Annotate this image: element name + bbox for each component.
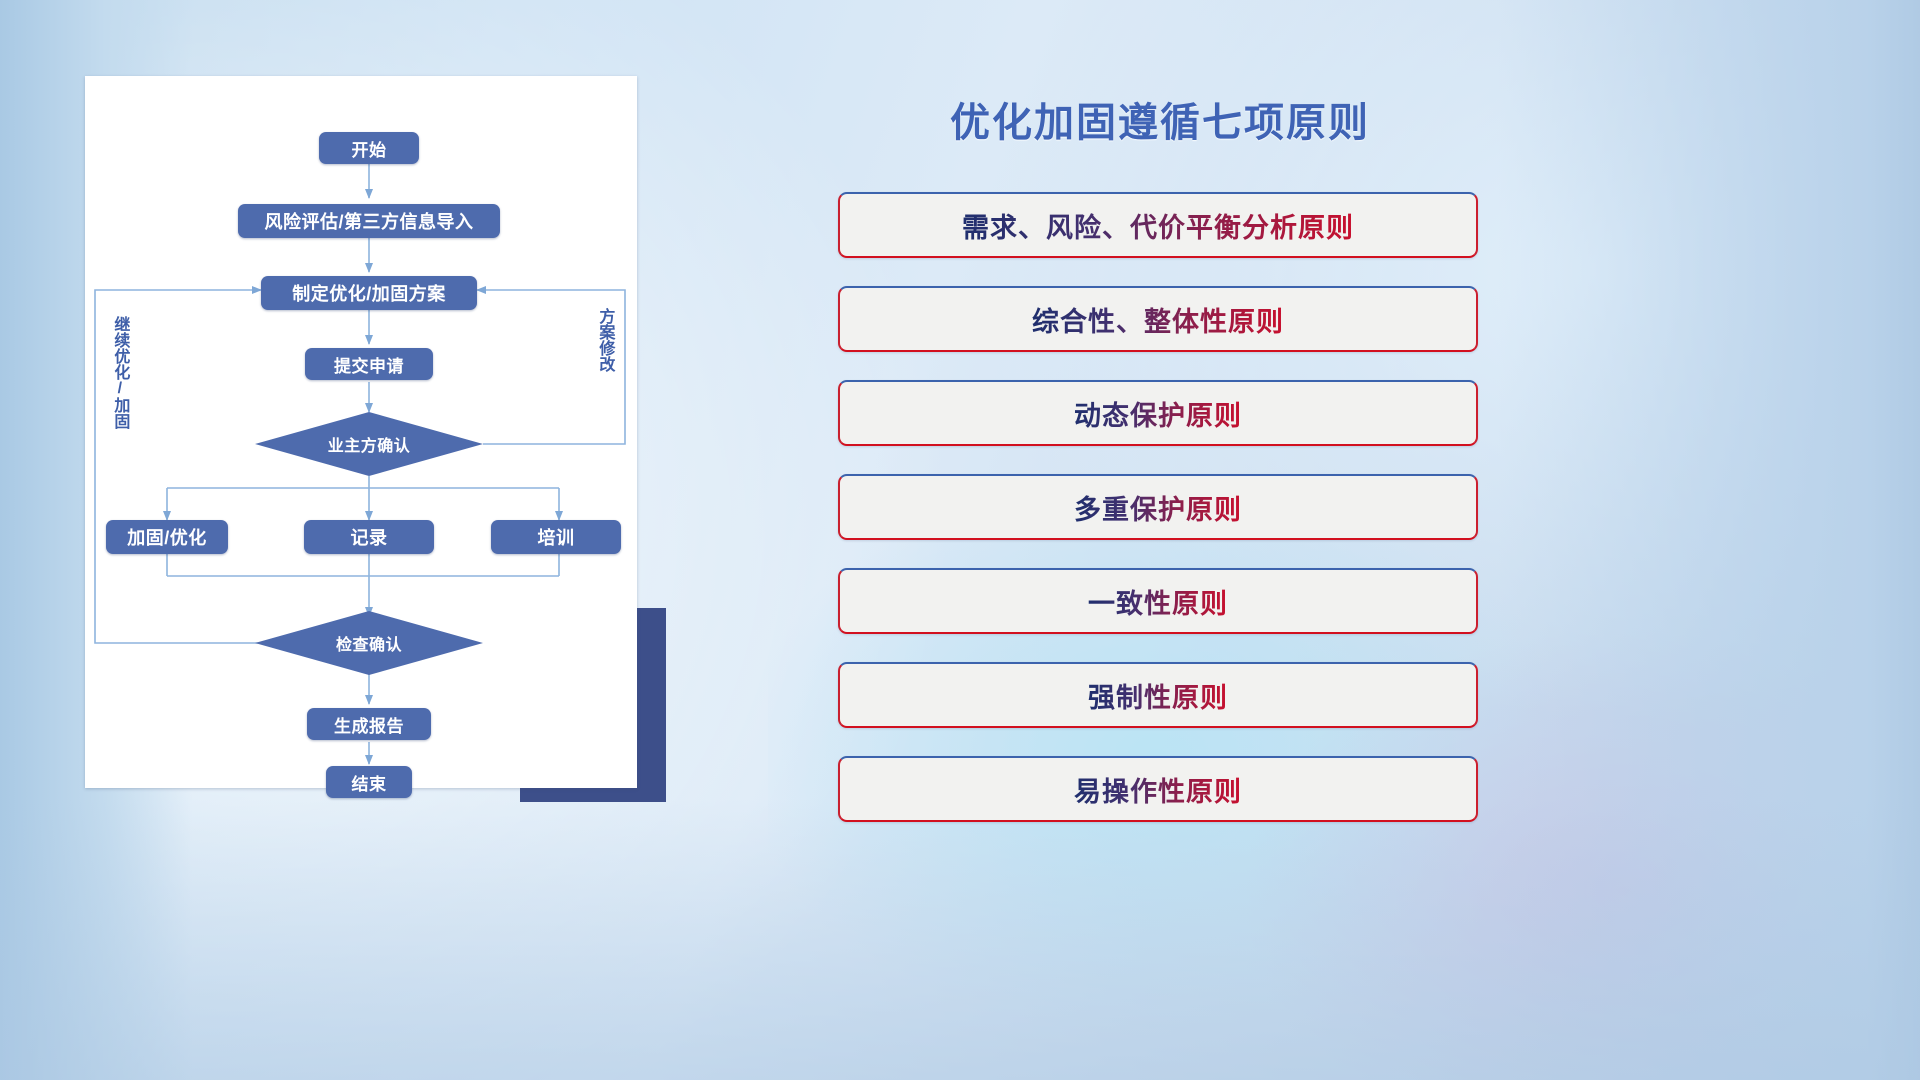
principle-label: 强制性原则	[1088, 676, 1228, 715]
flow-node-end[interactable]: 结束	[326, 766, 412, 798]
flow-node-check-confirm-label: 检查确认	[336, 631, 402, 655]
flow-node-report-label: 生成报告	[334, 712, 404, 737]
principle-label: 多重保护原则	[1074, 488, 1242, 527]
flow-node-submit-label: 提交申请	[334, 352, 404, 377]
principle-card[interactable]: 需求、风险、代价平衡分析原则	[838, 192, 1478, 258]
principles-list: 需求、风险、代价平衡分析原则 综合性、整体性原则 动态保护原则 多重保护原则 一…	[838, 192, 1478, 850]
principle-label: 动态保护原则	[1074, 394, 1242, 433]
flow-node-report[interactable]: 生成报告	[307, 708, 431, 740]
flow-label-plan-revision: 方案修改	[596, 308, 612, 403]
flowchart-panel: 开始 风险评估/第三方信息导入 制定优化/加固方案 提交申请 业主方确认 加固/…	[85, 76, 637, 788]
principle-card[interactable]: 易操作性原则	[838, 756, 1478, 822]
principle-card[interactable]: 多重保护原则	[838, 474, 1478, 540]
flow-node-reinforce-label: 加固/优化	[127, 524, 207, 550]
principle-label: 需求、风险、代价平衡分析原则	[962, 206, 1354, 245]
flow-node-start[interactable]: 开始	[319, 132, 419, 164]
principle-card[interactable]: 综合性、整体性原则	[838, 286, 1478, 352]
flow-node-risk-assessment[interactable]: 风险评估/第三方信息导入	[238, 204, 500, 238]
flow-node-training-label: 培训	[538, 524, 575, 550]
flow-node-end-label: 结束	[352, 770, 387, 795]
flow-node-risk-assessment-label: 风险评估/第三方信息导入	[265, 208, 474, 234]
flow-node-training[interactable]: 培训	[491, 520, 621, 554]
principle-card[interactable]: 动态保护原则	[838, 380, 1478, 446]
flow-node-reinforce[interactable]: 加固/优化	[106, 520, 228, 554]
flow-node-owner-confirm-label: 业主方确认	[328, 432, 411, 456]
flow-label-continue-optimize: 继续优化/加固	[111, 316, 127, 446]
principle-label: 易操作性原则	[1074, 770, 1242, 809]
principle-label: 综合性、整体性原则	[1032, 300, 1284, 339]
principle-card[interactable]: 一致性原则	[838, 568, 1478, 634]
principle-label: 一致性原则	[1088, 582, 1228, 621]
flow-node-start-label: 开始	[352, 136, 387, 161]
flow-node-plan-label: 制定优化/加固方案	[292, 280, 446, 306]
flow-node-check-confirm[interactable]: 检查确认	[299, 627, 439, 659]
flow-node-plan[interactable]: 制定优化/加固方案	[261, 276, 477, 310]
flow-node-record-label: 记录	[351, 524, 388, 550]
flow-node-owner-confirm[interactable]: 业主方确认	[289, 428, 449, 460]
page-title: 优化加固遵循七项原则	[840, 90, 1480, 148]
principle-card[interactable]: 强制性原则	[838, 662, 1478, 728]
flow-node-submit[interactable]: 提交申请	[305, 348, 433, 380]
flow-node-record[interactable]: 记录	[304, 520, 434, 554]
